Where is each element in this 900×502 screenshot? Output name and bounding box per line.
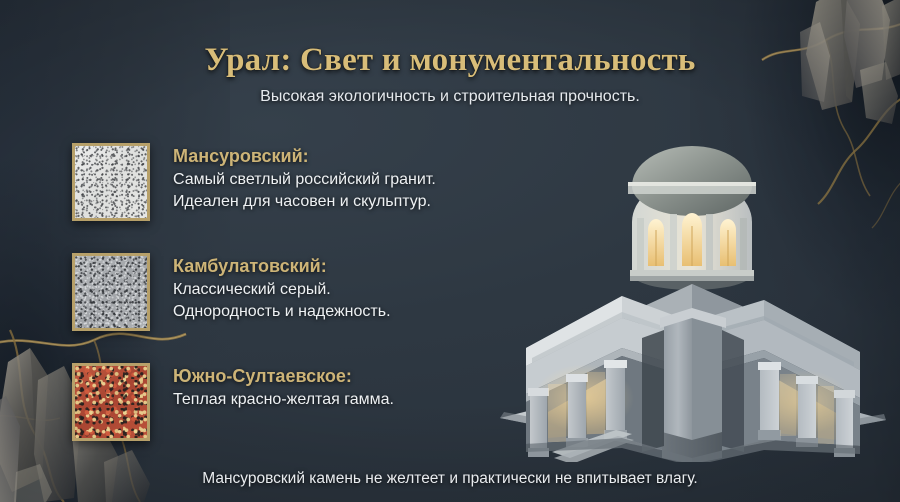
granite-chapel-render (492, 126, 894, 462)
footnote: Мансуровский камень не желтеет и практич… (0, 470, 900, 488)
page-subtitle: Высокая экологичность и строительная про… (0, 88, 900, 106)
stone-name: Камбулатовский: (173, 255, 391, 279)
stone-text: Камбулатовский: Классический серый. Одно… (173, 253, 391, 323)
stone-desc-line-2: Однородность и надежность. (173, 301, 391, 323)
stone-text: Южно-Султаевское: Теплая красно-желтая г… (173, 363, 394, 411)
stone-text: Мансуровский: Самый светлый российский г… (173, 143, 436, 213)
list-item[interactable]: Южно-Султаевское: Теплая красно-желтая г… (72, 363, 492, 473)
stone-desc-line-2: Идеален для часовен и скульптур. (173, 191, 436, 213)
page-title: Урал: Свет и монументальность (0, 42, 900, 79)
list-item[interactable]: Мансуровский: Самый светлый российский г… (72, 143, 492, 253)
stone-desc-line-1: Классический серый. (173, 279, 391, 301)
red-granite-swatch (72, 363, 150, 441)
light-granite-swatch (72, 143, 150, 221)
stone-desc-line-1: Самый светлый российский гранит. (173, 169, 436, 191)
stone-name: Южно-Султаевское: (173, 365, 394, 389)
grey-granite-swatch (72, 253, 150, 331)
slide-canvas: Урал: Свет и монументальность Высокая эк… (0, 0, 900, 502)
stone-list: Мансуровский: Самый светлый российский г… (72, 143, 492, 473)
list-item[interactable]: Камбулатовский: Классический серый. Одно… (72, 253, 492, 363)
stone-name: Мансуровский: (173, 145, 436, 169)
stone-desc-line-1: Теплая красно-желтая гамма. (173, 389, 394, 411)
